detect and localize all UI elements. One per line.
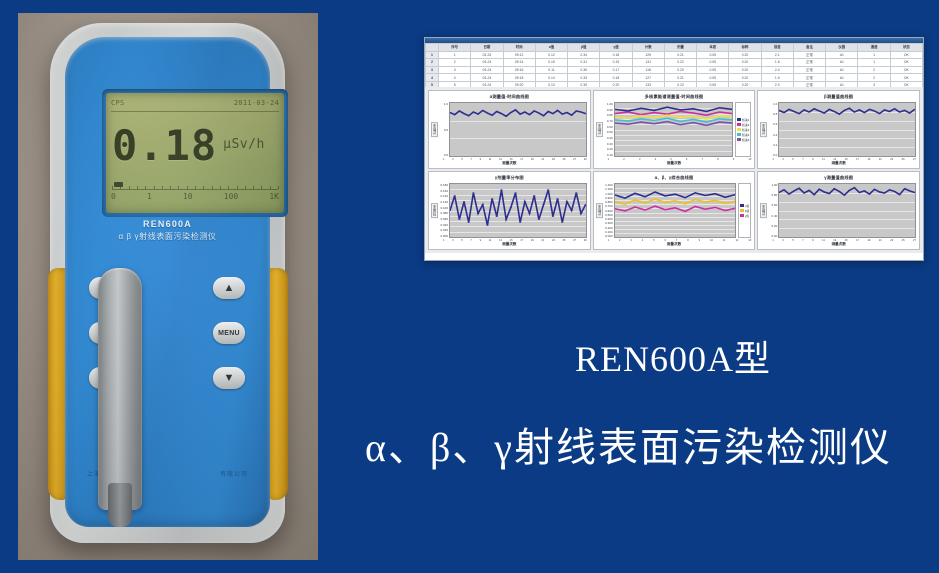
table-row[interactable]: 4403-2409:180.140.330.181270.210.050.201… bbox=[426, 74, 923, 82]
chart-legend-item: β值 bbox=[740, 209, 749, 213]
table-cell[interactable]: 118 bbox=[632, 66, 664, 74]
chevron-down-icon: ▼ bbox=[224, 373, 235, 384]
chart-y-ticks: 1.00.50.0 bbox=[438, 102, 449, 157]
chart-x-axis-title: 测量次数 bbox=[594, 242, 755, 249]
chart-legend-item: γ值 bbox=[740, 214, 749, 218]
table-cell[interactable]: 0.22 bbox=[664, 59, 696, 67]
chart-y-tick: 0.020 bbox=[439, 228, 448, 232]
chart-y-tick: 1.00 bbox=[768, 183, 777, 187]
table-column-header[interactable]: 标称 bbox=[729, 44, 761, 52]
legend-color-swatch bbox=[740, 209, 744, 212]
table-cell[interactable]: 0.20 bbox=[729, 51, 761, 59]
charts-grid: α测量值-时间曲线图计数率1.00.50.0135791113151719212… bbox=[425, 87, 923, 253]
table-cell[interactable]: 0.17 bbox=[600, 66, 632, 74]
table-cell[interactable]: 0.05 bbox=[697, 66, 729, 74]
table-cell[interactable]: 2.1 bbox=[761, 51, 793, 59]
table-cell[interactable]: 0.19 bbox=[600, 59, 632, 67]
software-screenshot: 序号日期时间α值β值γ值计数剂量本底标称误差备注仪器通道状态 1103-2409… bbox=[424, 37, 924, 261]
table-column-header[interactable]: 误差 bbox=[761, 44, 793, 52]
chart-plot-area bbox=[614, 102, 734, 157]
chart-legend: α值β值γ值 bbox=[738, 183, 751, 238]
lcd-status-row: CPS 2011-03-24 bbox=[111, 96, 279, 109]
chart-x-axis-title: 测量次数 bbox=[758, 161, 919, 168]
table-cell[interactable]: 0.14 bbox=[535, 74, 567, 82]
table-cell[interactable]: OK bbox=[890, 74, 922, 82]
lcd-reading: 0.18 μSv/h bbox=[112, 115, 279, 177]
chart-x-axis-title: 测量次数 bbox=[594, 161, 755, 168]
device-footer-text: 上海仁日 有限公司 bbox=[65, 469, 270, 478]
chart-y-tick: 0.70 bbox=[604, 119, 613, 123]
table-cell[interactable]: 正常 bbox=[793, 59, 825, 67]
table-cell[interactable]: 1 bbox=[858, 51, 890, 59]
table-cell[interactable]: 0.05 bbox=[697, 59, 729, 67]
legend-label: 核素5 bbox=[742, 138, 749, 142]
legend-color-swatch bbox=[737, 123, 741, 126]
chart-title: β测量值曲线图 bbox=[758, 91, 919, 100]
chart-y-ticks: 1.000.900.800.700.600.500.400.300.200.10 bbox=[603, 102, 614, 157]
menu-button[interactable]: MENU bbox=[213, 322, 245, 344]
device-chinese-label: α β γ射线表面污染检测仪 bbox=[65, 231, 270, 242]
table-cell[interactable]: 1.9 bbox=[761, 74, 793, 82]
table-cell[interactable]: 0.11 bbox=[535, 66, 567, 74]
chart-y-tick: 1.0 bbox=[439, 102, 448, 106]
caption-description: α、β、γ射线表面污染检测仪 bbox=[318, 415, 939, 473]
chart-y-tick: 0.30 bbox=[604, 142, 613, 146]
chart-y-tick: 0.80 bbox=[768, 193, 777, 197]
device-footer-right: 有限公司 bbox=[220, 469, 248, 478]
device-handle-strip bbox=[98, 268, 142, 510]
chart-legend-item: 核素1 bbox=[737, 118, 749, 122]
lcd-bezel: CPS 2011-03-24 0.18 μSv/h 01101001K bbox=[102, 89, 288, 217]
chart-y-tick: 0.060 bbox=[439, 217, 448, 221]
chart-card[interactable]: γ测量值曲线图计数率1.000.800.600.400.200.00135791… bbox=[757, 171, 920, 250]
chart-y-ticks: 0.1800.1600.1400.1200.1000.0800.0600.040… bbox=[438, 183, 449, 238]
chart-y-tick: 0.040 bbox=[439, 223, 448, 227]
chart-y-axis-title: 剂量率 bbox=[431, 203, 438, 218]
table-column-header[interactable]: β值 bbox=[568, 44, 600, 52]
chart-title: γ剂量率分布图 bbox=[429, 172, 590, 181]
chart-x-axis-title: 测量次数 bbox=[429, 242, 590, 249]
device-photo: CPS 2011-03-24 0.18 μSv/h 01101001K bbox=[18, 13, 318, 560]
device-model-plate: REN600A α β γ射线表面污染检测仪 bbox=[65, 219, 270, 242]
table-cell[interactable]: 0.21 bbox=[664, 74, 696, 82]
legend-label: 核素3 bbox=[742, 128, 749, 132]
table-column-header[interactable]: 备注 bbox=[793, 44, 825, 52]
table-cell[interactable]: A1 bbox=[826, 59, 858, 67]
lcd-date-label: 2011-03-24 bbox=[234, 99, 279, 107]
chart-y-tick: 0.100 bbox=[439, 206, 448, 210]
legend-color-swatch bbox=[740, 214, 744, 217]
table-column-header[interactable]: γ值 bbox=[600, 44, 632, 52]
chart-y-ticks: 1.2001.1001.0000.9000.8000.7000.6000.500… bbox=[603, 183, 614, 238]
lcd-bargraph bbox=[112, 181, 278, 190]
table-row[interactable]: 3303-2409:160.110.360.171180.200.050.202… bbox=[426, 66, 923, 74]
caption-model: REN600A型 bbox=[424, 330, 922, 382]
table-cell[interactable]: 03-24 bbox=[471, 74, 503, 82]
chart-title: α、β、γ综合曲线图 bbox=[594, 172, 755, 181]
chart-body: 计数率1.2001.1001.0000.9000.8000.7000.6000.… bbox=[594, 181, 755, 238]
data-sheet[interactable]: 序号日期时间α值β值γ值计数剂量本底标称误差备注仪器通道状态 1103-2409… bbox=[425, 43, 923, 87]
lcd-scale-labels: 01101001K bbox=[111, 192, 279, 204]
lcd-value: 0.18 bbox=[112, 125, 217, 167]
table-header-row: 序号日期时间α值β值γ值计数剂量本底标称误差备注仪器通道状态 bbox=[426, 44, 923, 52]
chart-card[interactable]: α测量值-时间曲线图计数率1.00.50.0135791113151719212… bbox=[428, 90, 591, 169]
lcd-bargraph-ticks bbox=[112, 185, 278, 189]
table-cell[interactable]: 03-24 bbox=[471, 66, 503, 74]
table-cell[interactable]: 127 bbox=[632, 74, 664, 82]
table-cell[interactable]: OK bbox=[890, 66, 922, 74]
chart-y-tick: 0.180 bbox=[439, 183, 448, 187]
chart-legend: 核素1核素2核素3核素4核素5 bbox=[735, 102, 751, 157]
chart-y-tick: 0.20 bbox=[604, 147, 613, 151]
chart-y-tick: 0.080 bbox=[439, 211, 448, 215]
table-cell[interactable]: 0.20 bbox=[729, 66, 761, 74]
chart-x-axis-title: 测量次数 bbox=[429, 161, 590, 168]
chart-body: 计数率1.00.50.0 bbox=[429, 100, 590, 157]
device-model-label: REN600A bbox=[65, 219, 270, 229]
table-cell[interactable]: 09:12 bbox=[503, 51, 535, 59]
table-cell[interactable]: 1 bbox=[858, 59, 890, 67]
table-cell[interactable]: 2 bbox=[858, 74, 890, 82]
legend-color-swatch bbox=[737, 118, 741, 121]
chart-y-tick: 0.140 bbox=[439, 194, 448, 198]
table-column-header[interactable]: 序号 bbox=[439, 44, 471, 52]
table-cell[interactable]: 0.12 bbox=[535, 51, 567, 59]
table-cell[interactable]: 0.36 bbox=[568, 66, 600, 74]
table-column-header[interactable]: α值 bbox=[535, 44, 567, 52]
chart-y-tick: 0.20 bbox=[768, 224, 777, 228]
chart-y-tick: 0.60 bbox=[768, 203, 777, 207]
chart-y-tick: 0.40 bbox=[604, 136, 613, 140]
chart-y-tick: 0.4 bbox=[768, 133, 777, 137]
chart-y-tick: 0.120 bbox=[439, 200, 448, 204]
chart-legend-item: 核素4 bbox=[737, 133, 749, 137]
table-cell[interactable]: 2 bbox=[439, 59, 471, 67]
table-cell[interactable]: 09:16 bbox=[503, 66, 535, 74]
table-cell[interactable]: 0.21 bbox=[664, 51, 696, 59]
table-cell[interactable]: 0.33 bbox=[568, 74, 600, 82]
chart-plot-area bbox=[449, 102, 587, 157]
table-cell[interactable]: 0.18 bbox=[600, 74, 632, 82]
chart-body: 剂量率0.1800.1600.1400.1200.1000.0800.0600.… bbox=[429, 181, 590, 238]
chart-y-tick: 0.40 bbox=[768, 214, 777, 218]
device-handle-foot bbox=[108, 483, 132, 527]
chart-y-axis-title: 计数率 bbox=[596, 122, 603, 137]
chart-plot-area bbox=[614, 183, 736, 238]
table-cell[interactable]: 0.15 bbox=[535, 59, 567, 67]
table-cell[interactable]: OK bbox=[890, 51, 922, 59]
chart-y-tick: 0.8 bbox=[768, 112, 777, 116]
legend-color-swatch bbox=[740, 204, 744, 207]
down-button[interactable]: ▼ bbox=[213, 367, 245, 389]
table-cell[interactable]: 0.05 bbox=[697, 74, 729, 82]
legend-label: γ值 bbox=[745, 214, 749, 218]
slide-canvas: CPS 2011-03-24 0.18 μSv/h 01101001K bbox=[0, 0, 939, 573]
table-column-header[interactable]: 状态 bbox=[890, 44, 922, 52]
device-front-panel: CPS 2011-03-24 0.18 μSv/h 01101001K bbox=[65, 37, 270, 527]
chart-card[interactable]: γ剂量率分布图剂量率0.1800.1600.1400.1200.1000.080… bbox=[428, 171, 591, 250]
chart-y-ticks: 1.00.80.60.40.20.0 bbox=[767, 102, 778, 157]
chart-y-tick: 1.00 bbox=[604, 102, 613, 106]
legend-color-swatch bbox=[737, 138, 741, 141]
chart-legend-item: 核素2 bbox=[737, 123, 749, 127]
chart-y-tick: 0.5 bbox=[439, 128, 448, 132]
chart-title: α测量值-时间曲线图 bbox=[429, 91, 590, 100]
chart-legend-item: 核素3 bbox=[737, 128, 749, 132]
table-row[interactable]: 1103-2409:120.120.340.181250.210.050.202… bbox=[426, 51, 923, 59]
legend-label: 核素4 bbox=[742, 133, 749, 137]
lcd-divider bbox=[111, 111, 279, 112]
table-cell[interactable]: 03-24 bbox=[471, 51, 503, 59]
table-column-header[interactable]: 日期 bbox=[471, 44, 503, 52]
table-cell[interactable]: A1 bbox=[826, 74, 858, 82]
table-cell[interactable]: 4 bbox=[439, 74, 471, 82]
chart-y-tick: 0.90 bbox=[604, 108, 613, 112]
lcd-scale-tick: 1K bbox=[269, 192, 279, 204]
lcd-mode-label: CPS bbox=[111, 99, 125, 107]
table-cell[interactable]: 0.05 bbox=[697, 51, 729, 59]
chart-y-tick: 0.160 bbox=[439, 189, 448, 193]
table-cell[interactable]: 131 bbox=[632, 59, 664, 67]
chart-y-tick: 0.60 bbox=[604, 125, 613, 129]
lcd-unit: μSv/h bbox=[223, 137, 265, 156]
legend-label: 核素2 bbox=[742, 123, 749, 127]
chevron-up-icon: ▲ bbox=[224, 283, 235, 294]
chart-y-ticks: 1.000.800.600.400.200.00 bbox=[767, 183, 778, 238]
table-column-header[interactable]: 剂量 bbox=[664, 44, 696, 52]
menu-button-label: MENU bbox=[218, 330, 240, 337]
table-cell[interactable]: 3 bbox=[439, 66, 471, 74]
up-button[interactable]: ▲ bbox=[213, 277, 245, 299]
chart-plot-area bbox=[449, 183, 587, 238]
data-table: 序号日期时间α值β值γ值计数剂量本底标称误差备注仪器通道状态 1103-2409… bbox=[425, 43, 923, 87]
table-cell[interactable]: A1 bbox=[826, 66, 858, 74]
lcd-scale-tick: 0 bbox=[111, 192, 116, 204]
chart-x-axis-title: 测量次数 bbox=[758, 242, 919, 249]
table-cell[interactable]: 03-24 bbox=[471, 59, 503, 67]
lcd-scale-tick: 100 bbox=[224, 192, 238, 204]
chart-y-axis-title: 计数率 bbox=[596, 203, 603, 218]
table-cell[interactable]: 0.20 bbox=[729, 59, 761, 67]
table-cell[interactable]: 正常 bbox=[793, 66, 825, 74]
lcd-screen: CPS 2011-03-24 0.18 μSv/h 01101001K bbox=[106, 93, 284, 213]
table-cell[interactable]: OK bbox=[890, 59, 922, 67]
lcd-scale-tick: 10 bbox=[183, 192, 193, 204]
table-cell[interactable]: 0.18 bbox=[600, 51, 632, 59]
table-cell[interactable]: 0.20 bbox=[664, 66, 696, 74]
chart-y-axis-title: 计数率 bbox=[431, 122, 438, 137]
table-column-header[interactable]: 仪器 bbox=[826, 44, 858, 52]
table-cell[interactable]: 09:14 bbox=[503, 59, 535, 67]
chart-body: 计数率1.00.80.60.40.20.0 bbox=[758, 100, 919, 157]
legend-label: α值 bbox=[745, 204, 749, 208]
table-cell[interactable]: 125 bbox=[632, 51, 664, 59]
chart-card[interactable]: α、β、γ综合曲线图计数率1.2001.1001.0000.9000.8000.… bbox=[593, 171, 756, 250]
chart-card[interactable]: 多核素能谱测量值-时间曲线图计数率1.000.900.800.700.600.5… bbox=[593, 90, 756, 169]
legend-color-swatch bbox=[737, 128, 741, 131]
legend-color-swatch bbox=[737, 133, 741, 136]
table-cell[interactable]: 0.20 bbox=[729, 74, 761, 82]
chart-y-tick: 0.2 bbox=[768, 143, 777, 147]
table-cell[interactable]: A1 bbox=[826, 51, 858, 59]
table-cell[interactable]: 0.34 bbox=[568, 51, 600, 59]
chart-y-tick: 0.80 bbox=[604, 113, 613, 117]
table-cell[interactable]: 正常 bbox=[793, 74, 825, 82]
table-column-header[interactable]: 计数 bbox=[632, 44, 664, 52]
device-grip-right bbox=[268, 268, 288, 500]
table-cell[interactable]: 1 bbox=[439, 51, 471, 59]
chart-y-tick: 1.0 bbox=[768, 102, 777, 106]
chart-plot-area bbox=[778, 102, 916, 157]
table-column-header[interactable]: 本底 bbox=[697, 44, 729, 52]
table-column-header[interactable]: 时间 bbox=[503, 44, 535, 52]
table-cell[interactable]: 1.8 bbox=[761, 59, 793, 67]
table-cell[interactable]: 2 bbox=[858, 66, 890, 74]
chart-y-axis-title: 计数率 bbox=[760, 122, 767, 137]
chart-legend-item: α值 bbox=[740, 204, 749, 208]
chart-y-axis-title: 计数率 bbox=[760, 203, 767, 218]
table-column-header[interactable]: 通道 bbox=[858, 44, 890, 52]
lcd-scale-tick: 1 bbox=[147, 192, 152, 204]
table-cell[interactable]: 2.4 bbox=[761, 66, 793, 74]
table-cell[interactable]: 09:18 bbox=[503, 74, 535, 82]
chart-body: 计数率1.000.900.800.700.600.500.400.300.200… bbox=[594, 100, 755, 157]
table-cell[interactable]: 0.31 bbox=[568, 59, 600, 67]
chart-y-tick: 0.6 bbox=[768, 122, 777, 126]
chart-y-tick: 0.50 bbox=[604, 130, 613, 134]
table-row[interactable]: 2203-2409:140.150.310.191310.220.050.201… bbox=[426, 59, 923, 67]
chart-card[interactable]: β测量值曲线图计数率1.00.80.60.40.20.0135791113151… bbox=[757, 90, 920, 169]
chart-legend-item: 核素5 bbox=[737, 138, 749, 142]
legend-label: β值 bbox=[745, 209, 749, 213]
chart-title: 多核素能谱测量值-时间曲线图 bbox=[594, 91, 755, 100]
table-cell[interactable]: 正常 bbox=[793, 51, 825, 59]
chart-title: γ测量值曲线图 bbox=[758, 172, 919, 181]
chart-body: 计数率1.000.800.600.400.200.00 bbox=[758, 181, 919, 238]
legend-label: 核素1 bbox=[742, 118, 749, 122]
chart-plot-area bbox=[778, 183, 916, 238]
